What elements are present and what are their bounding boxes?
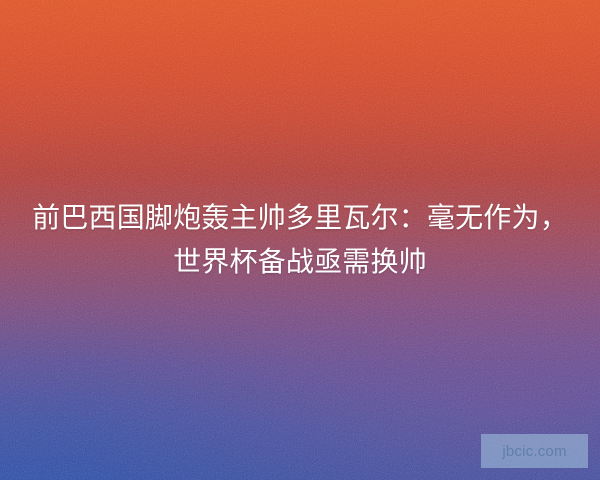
watermark-badge: jbcic.com bbox=[481, 434, 588, 468]
news-hero-card: 前巴西国脚炮轰主帅多里瓦尔：毫无作为，世界杯备战亟需换帅 jbcic.com bbox=[0, 0, 600, 480]
headline-container: 前巴西国脚炮轰主帅多里瓦尔：毫无作为，世界杯备战亟需换帅 bbox=[0, 196, 600, 284]
watermark-label: jbcic.com bbox=[502, 444, 566, 459]
headline-text: 前巴西国脚炮轰主帅多里瓦尔：毫无作为，世界杯备战亟需换帅 bbox=[22, 196, 578, 284]
